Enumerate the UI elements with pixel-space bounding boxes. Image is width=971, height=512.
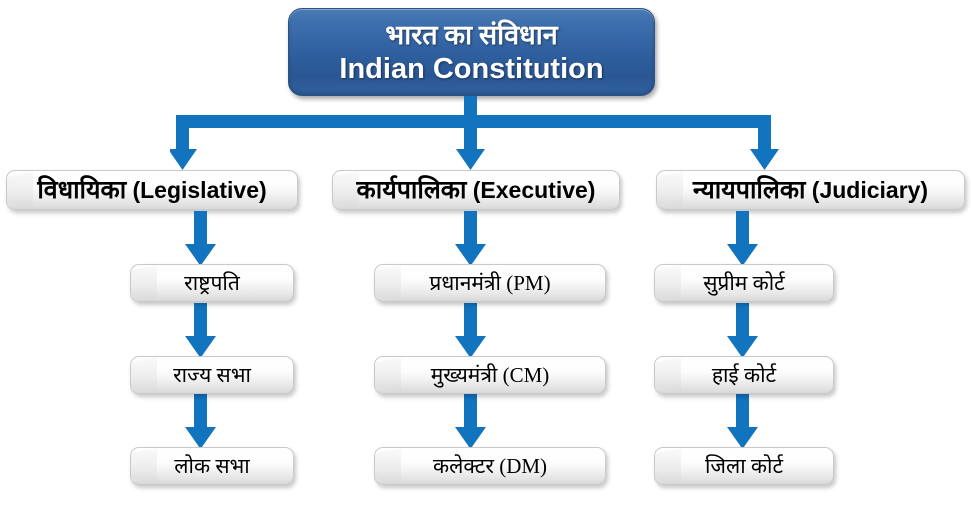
branch-box-legislative[interactable]: विधायिका (Legislative) [6,170,298,210]
branch-label-legislative: विधायिका (Legislative) [37,178,266,203]
node-rajya-sabha[interactable]: राज्य सभा [130,356,294,394]
root-to-branches-connector [170,96,785,176]
branch-label-executive: कार्यपालिका (Executive) [357,178,596,203]
arrow-supreme-court-to-high-court [726,303,759,360]
arrow-judiciary-to-supreme-court [726,211,759,268]
node-collector[interactable]: कलेक्टर (DM) [374,447,606,485]
node-label-prime-minister: प्रधानमंत्री (PM) [429,273,550,294]
node-label-district-court: जिला कोर्ट [705,456,783,477]
node-prime-minister[interactable]: प्रधानमंत्री (PM) [374,264,606,302]
branch-box-executive[interactable]: कार्यपालिका (Executive) [332,170,620,210]
arrow-high-court-to-district-court [726,394,759,451]
node-supreme-court[interactable]: सुप्रीम कोर्ट [654,264,834,302]
root-title-english: Indian Constitution [339,52,603,86]
node-district-court[interactable]: जिला कोर्ट [654,447,834,485]
arrow-legislative-to-president [184,211,217,268]
root-node-indian-constitution: भारत का संविधान Indian Constitution [288,8,655,96]
node-label-collector: कलेक्टर (DM) [433,456,547,477]
root-title-hindi: भारत का संविधान [385,18,557,52]
node-label-chief-minister: मुख्यमंत्री (CM) [431,365,550,386]
arrow-executive-to-prime-minister [454,211,487,268]
arrow-chief-minister-to-collector [454,394,487,451]
node-chief-minister[interactable]: मुख्यमंत्री (CM) [374,356,606,394]
arrow-prime-minister-to-chief-minister [454,303,487,360]
org-chart-canvas: भारत का संविधान Indian Constitution विधा… [0,0,971,512]
node-label-supreme-court: सुप्रीम कोर्ट [703,273,785,294]
node-label-president: राष्ट्रपति [184,273,240,294]
node-high-court[interactable]: हाई कोर्ट [654,356,834,394]
node-label-lok-sabha: लोक सभा [174,456,249,477]
arrow-rajya-sabha-to-lok-sabha [184,394,217,451]
branch-box-judiciary[interactable]: न्यायपालिका (Judiciary) [656,170,965,210]
branch-label-judiciary: न्यायपालिका (Judiciary) [693,178,928,203]
node-label-rajya-sabha: राज्य सभा [173,365,251,386]
node-president[interactable]: राष्ट्रपति [130,264,294,302]
arrow-president-to-rajya-sabha [184,303,217,360]
node-lok-sabha[interactable]: लोक सभा [130,447,294,485]
node-label-high-court: हाई कोर्ट [712,365,776,386]
